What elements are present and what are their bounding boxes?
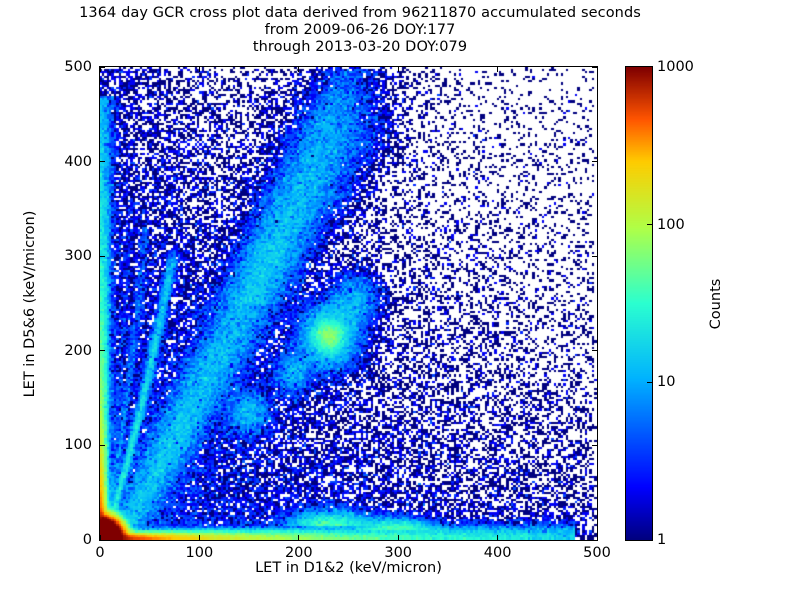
x-tick-100 xyxy=(199,535,200,540)
colorbar-title: Counts xyxy=(708,278,724,329)
x-tick-label-400: 400 xyxy=(484,545,512,561)
y-tick-100 xyxy=(100,445,105,446)
x-tick-label-200: 200 xyxy=(285,545,313,561)
y-tick-0 xyxy=(100,540,105,541)
y-tick-right-400 xyxy=(592,161,597,162)
x-axis-title: LET in D1&2 (keV/micron) xyxy=(99,560,598,576)
title-line-2: from 2009-06-26 DOY:177 xyxy=(0,22,720,39)
figure-title: 1364 day GCR cross plot data derived fro… xyxy=(0,5,720,56)
y-tick-label-400: 400 xyxy=(0,154,92,170)
y-tick-300 xyxy=(100,256,105,257)
figure-canvas: 1364 day GCR cross plot data derived fro… xyxy=(0,0,800,600)
scatter-density-plot xyxy=(100,67,597,540)
colorbar-gradient xyxy=(626,67,652,540)
colorbar-tick-10 xyxy=(647,382,652,383)
y-tick-right-500 xyxy=(592,67,597,68)
y-tick-200 xyxy=(100,350,105,351)
colorbar-tick-label-10: 10 xyxy=(657,374,675,390)
y-tick-label-100: 100 xyxy=(0,437,92,453)
y-tick-label-200: 200 xyxy=(0,343,92,359)
x-tick-label-100: 100 xyxy=(186,545,214,561)
x-tick-top-200 xyxy=(298,67,299,72)
colorbar-tick-label-1: 1 xyxy=(657,532,666,548)
x-tick-label-0: 0 xyxy=(95,545,104,561)
x-tick-top-300 xyxy=(398,67,399,72)
colorbar-tick-label-1000: 1000 xyxy=(657,59,694,75)
y-tick-right-300 xyxy=(592,256,597,257)
y-tick-label-300: 300 xyxy=(0,248,92,264)
y-tick-right-100 xyxy=(592,445,597,446)
title-line-1: 1364 day GCR cross plot data derived fro… xyxy=(0,5,720,22)
colorbar-tick-label-100: 100 xyxy=(657,217,685,233)
x-tick-top-0 xyxy=(100,67,101,72)
title-line-3: through 2013-03-20 DOY:079 xyxy=(0,39,720,56)
x-tick-label-300: 300 xyxy=(384,545,412,561)
x-tick-400 xyxy=(497,535,498,540)
y-tick-400 xyxy=(100,161,105,162)
x-tick-top-500 xyxy=(597,67,598,72)
y-tick-right-200 xyxy=(592,350,597,351)
plot-area xyxy=(99,66,598,541)
colorbar-tick-100 xyxy=(647,224,652,225)
x-tick-top-400 xyxy=(497,67,498,72)
x-tick-200 xyxy=(298,535,299,540)
y-tick-label-500: 500 xyxy=(0,59,92,75)
y-axis-title: LET in D5&6 (keV/micron) xyxy=(22,210,38,397)
y-tick-right-0 xyxy=(592,540,597,541)
x-tick-label-500: 500 xyxy=(583,545,611,561)
y-tick-500 xyxy=(100,67,105,68)
colorbar xyxy=(625,66,653,541)
y-tick-label-0: 0 xyxy=(0,532,92,548)
x-tick-top-100 xyxy=(199,67,200,72)
x-tick-300 xyxy=(398,535,399,540)
